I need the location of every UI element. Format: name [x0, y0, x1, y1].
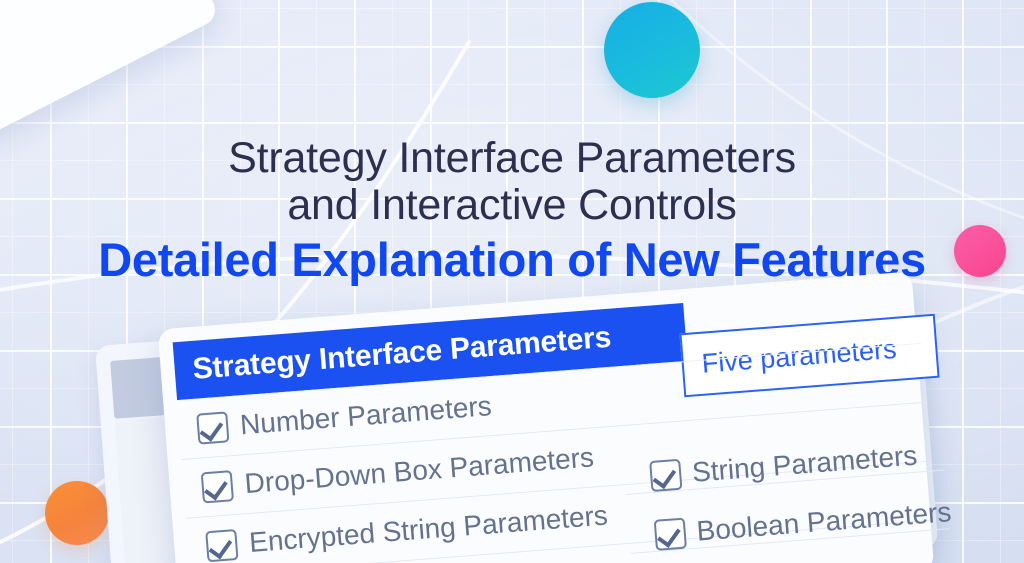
checkbox-checked-icon[interactable]	[196, 411, 229, 444]
checkbox-checked-icon[interactable]	[654, 517, 687, 550]
checkbox-checked-icon[interactable]	[201, 470, 234, 503]
checkbox-checked-icon[interactable]	[649, 458, 682, 491]
decor-circle-pink	[954, 225, 1006, 277]
checkbox-checked-icon[interactable]	[205, 529, 238, 562]
decor-circle-orange	[45, 481, 109, 545]
slide-stage: Strategy Interface Parameters and Intera…	[0, 0, 1024, 563]
list-item-label: Number Parameters	[239, 390, 493, 441]
decor-circle-cyan	[604, 2, 700, 98]
